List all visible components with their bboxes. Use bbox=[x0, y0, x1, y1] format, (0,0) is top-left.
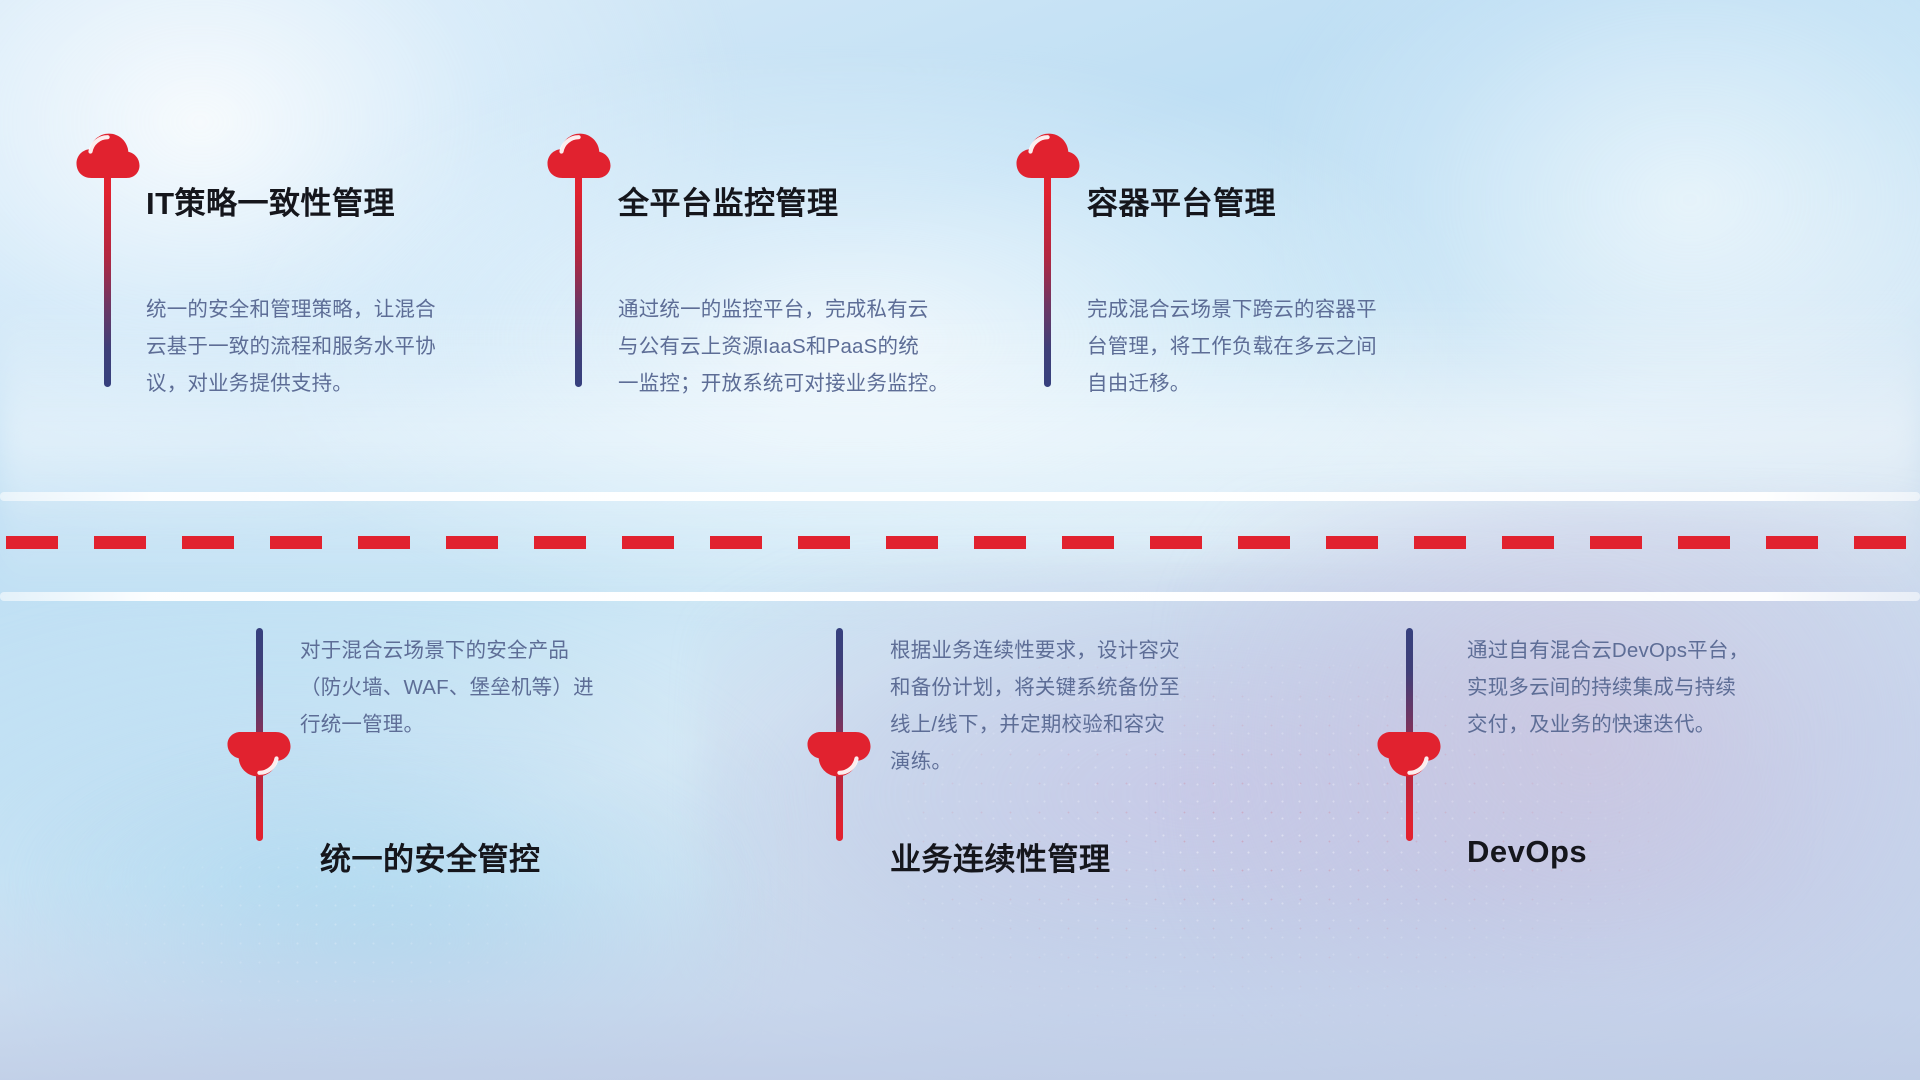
connector-stem bbox=[104, 170, 111, 387]
column-body-text: 通过统一的监控平台，完成私有云 与公有云上资源IaaS和PaaS的统 一监控；开… bbox=[618, 291, 998, 402]
column-title: 统一的安全管控 bbox=[320, 834, 541, 879]
connector-stem bbox=[575, 170, 582, 387]
connector-stem bbox=[1044, 170, 1051, 387]
cloud-pin-icon bbox=[1015, 131, 1081, 181]
column-title: DevOps bbox=[1467, 834, 1587, 870]
center-divider bbox=[0, 492, 1920, 602]
cloud-pin-icon bbox=[806, 729, 872, 779]
dashed-red-line bbox=[0, 536, 1920, 549]
cloud-pin-icon bbox=[546, 131, 612, 181]
column-body-text: 统一的安全和管理策略，让混合 云基于一致的流程和服务水平协 议，对业务提供支持。 bbox=[146, 291, 506, 402]
infographic-canvas: IT策略一致性管理 统一的安全和管理策略，让混合 云基于一致的流程和服务水平协 … bbox=[0, 0, 1920, 1080]
divider-bar-bottom bbox=[0, 592, 1920, 601]
cloud-pin-icon bbox=[226, 729, 292, 779]
divider-bar-top bbox=[0, 492, 1920, 501]
cloud-pin-icon bbox=[1376, 729, 1442, 779]
column-body-text: 通过自有混合云DevOps平台， 实现多云间的持续集成与持续 交付，及业务的快速… bbox=[1467, 632, 1847, 743]
column-title: IT策略一致性管理 bbox=[146, 178, 395, 223]
dashed-line-row bbox=[0, 536, 1920, 550]
background-bottom-fade bbox=[0, 880, 1920, 1080]
column-title: 业务连续性管理 bbox=[890, 834, 1111, 879]
column-title: 容器平台管理 bbox=[1087, 178, 1276, 223]
column-body-text: 完成混合云场景下跨云的容器平 台管理，将工作负载在多云之间 自由迁移。 bbox=[1087, 291, 1457, 402]
cloud-pin-icon bbox=[75, 131, 141, 181]
column-title: 全平台监控管理 bbox=[618, 178, 839, 223]
column-body-text: 对于混合云场景下的安全产品 （防火墙、WAF、堡垒机等）进 行统一管理。 bbox=[300, 632, 670, 743]
column-body-text: 根据业务连续性要求，设计容灾 和备份计划，将关键系统备份至 线上/线下，并定期校… bbox=[890, 632, 1270, 780]
